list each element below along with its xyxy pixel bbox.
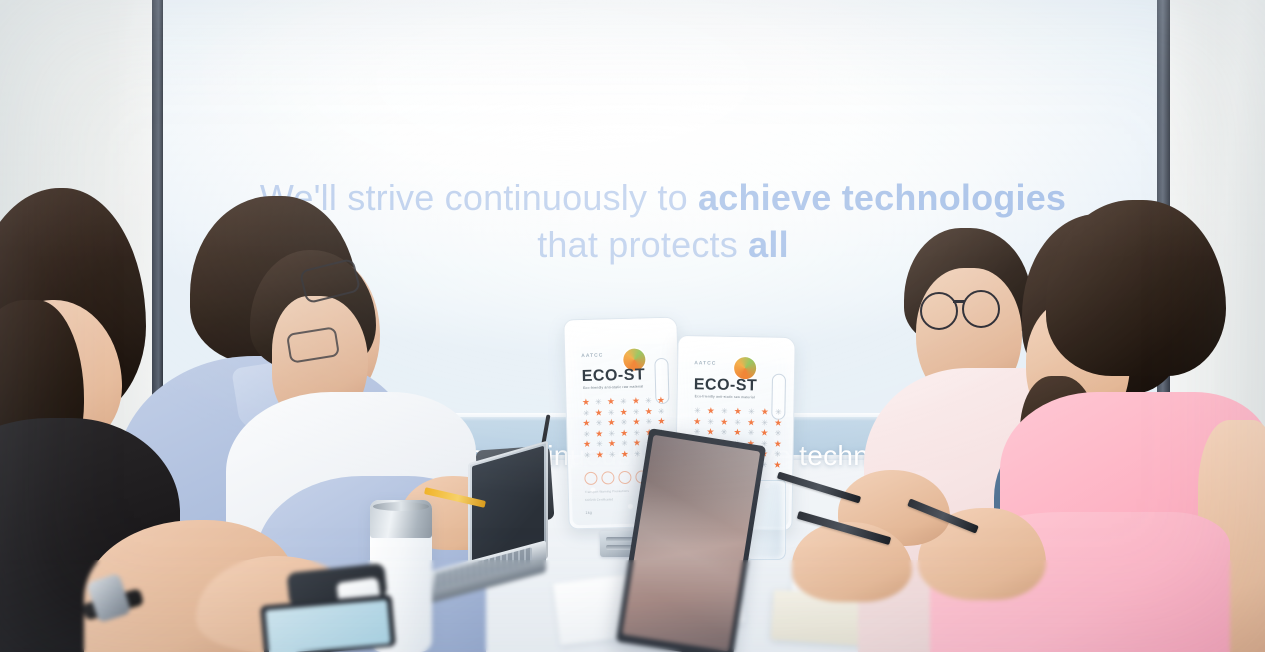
bag-subtitle: Eco-friendly anti-static raw material (583, 384, 643, 390)
bag-product-name: ECO-ST (582, 366, 646, 386)
glasses-icon (920, 292, 958, 330)
tablet-device[interactable] (260, 594, 396, 652)
glasses-icon (962, 290, 1000, 328)
bag-product-name: ECO-ST (694, 376, 758, 395)
bag-top-seal (564, 318, 677, 347)
slide-line-1-emphasis: achieve technologies (698, 177, 1066, 218)
bag-logo-icon (734, 357, 756, 379)
tumbler-lip (373, 502, 429, 511)
screen-frame-left (152, 0, 163, 445)
laptop-open-left (428, 452, 548, 584)
slide-line-1-prefix: We'll strive continuously to (260, 177, 698, 218)
bag-subtitle: Eco-friendly anti-static raw material (695, 394, 755, 399)
meeting-room-photo: We'll strive continuously to achieve tec… (0, 0, 1265, 652)
slide-line-2-prefix: that protects (537, 224, 748, 265)
glasses-bridge (953, 300, 965, 303)
tumbler-steel-rim (370, 500, 432, 538)
bag-brand-top: AATCC (694, 360, 716, 366)
bag-brand-top: AATCC (581, 352, 603, 359)
tablet-screen[interactable] (265, 600, 390, 652)
slide-line-2-emphasis: all (748, 224, 789, 265)
